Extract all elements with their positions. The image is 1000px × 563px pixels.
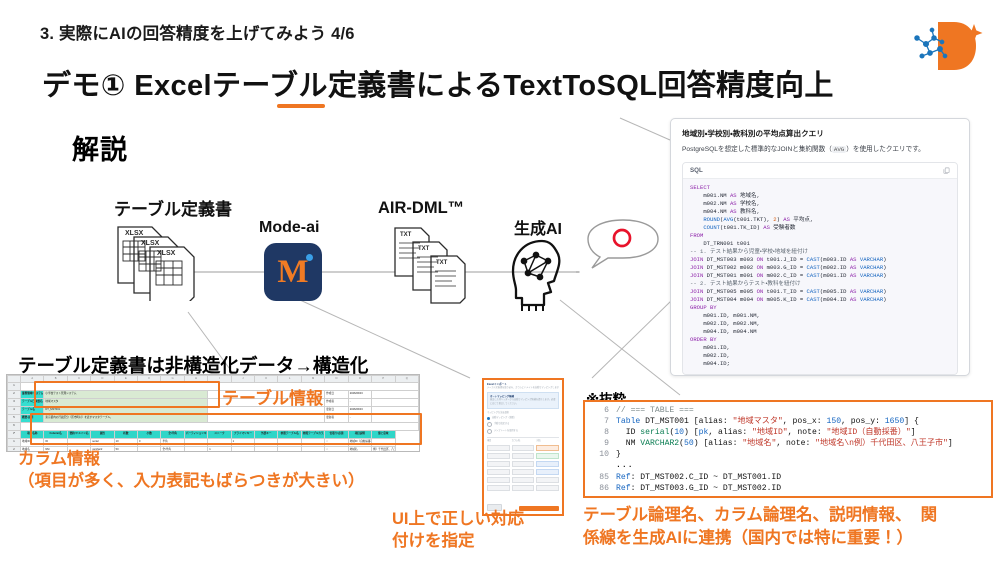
code-line: ... (587, 460, 989, 471)
ui-thumb-band-body: 検出した列ヘッダーから自動でマッピング候補を提示します。必要に応じて修正してくだ… (490, 399, 556, 406)
sql-desc-post: ）を使用したクエリです。 (846, 146, 924, 153)
sql-code-card: SQL SELECT m001.NM AS 地域名, m002.NM AS 学校… (682, 162, 958, 375)
section-label: 解説 (72, 128, 128, 167)
txt-file-stack: TXTTXTTXT (392, 225, 484, 307)
code-line-text: Ref: DT_MST003.G_ID ~ DT_MST002.ID (616, 483, 781, 494)
code-line-no: 10 (587, 449, 616, 460)
code-line-no: 7 (587, 416, 616, 427)
table-info-highlight-box (34, 381, 220, 408)
mode-ai-dot-icon (306, 254, 313, 261)
ui-mapping-caption: UI上で正しい対応付けを指定 (392, 508, 524, 553)
excel-audit-value-1: - (348, 399, 371, 407)
code-line-text: Ref: DT_MST002.C_ID ~ DT_MST001.ID (616, 472, 781, 483)
excel-col-M: M (301, 376, 324, 383)
copy-icon[interactable] (943, 167, 950, 174)
list-item[interactable] (487, 461, 559, 467)
excel-col-L: L (278, 376, 301, 383)
ui-thumb-import-button[interactable] (519, 506, 559, 511)
flow-label-air-dml: AIR-DML™ (378, 199, 464, 218)
excel-col-K: K (255, 376, 278, 383)
flow-label-mode-ai: Mode-ai (259, 219, 319, 237)
excel-col-P: P (372, 376, 395, 383)
ui-thumb-radio-2-label: 手動で指定する (494, 423, 509, 427)
svg-text:TXT: TXT (436, 260, 448, 266)
sql-code-body: SELECT m001.NM AS 地域名, m002.NM AS 学校名, m… (683, 179, 957, 374)
ui-thumb-table-header: 項目 カラム名 対応 (487, 437, 559, 444)
air-dml-code-block[interactable]: 6// === TABLE === 7Table DT_MST001 [alia… (583, 400, 993, 498)
radio-icon (487, 429, 492, 434)
excel-cell-value-2: 例）千代田区、八王子市 (372, 447, 395, 453)
column-info-highlight-box (30, 413, 422, 445)
excel-row-no-1: 1 (8, 439, 21, 447)
code-line-no: 86 (587, 483, 616, 494)
dml-benefit-caption: テーブル論理名、カラム論理名、説明情報、 関係線を生成AIに連携（国内では特に重… (583, 504, 937, 550)
title-underline-rule (277, 104, 325, 108)
code-line-no: 85 (587, 472, 616, 483)
list-item[interactable] (487, 485, 559, 491)
list-item[interactable] (487, 477, 559, 483)
code-line-no: 9 (587, 438, 616, 449)
ui-thumb-radio-3-label: テンプレートを使用する (494, 430, 518, 434)
column-info-tag: カラム情報（項目が多く、入力表記もばらつきが大きい） (18, 448, 365, 493)
sql-panel-description: PostgreSQLを想定した標準的なJOINと集約関数（AVG）を使用したクエ… (682, 145, 958, 154)
code-line: 7Table DT_MST001 [alias: "地域マスタ", pos_x:… (587, 416, 989, 427)
ui-thumb-th-1: カラム名 (512, 440, 535, 444)
brand-d-logo (912, 16, 986, 76)
sql-panel-title: 地域別・学校別・教科別の平均点算出クエリ (682, 129, 958, 139)
code-line-text: ID serial(10) [pk, alias: "地域ID", note: … (616, 427, 916, 438)
flow-label-gen-ai: 生成AI (514, 215, 562, 239)
code-line: 6// === TABLE === (587, 405, 989, 416)
sql-answer-panel[interactable]: 地域別・学校別・教科別の平均点算出クエリ PostgreSQLを想定した標準的な… (670, 118, 970, 376)
code-line: 8 ID serial(10) [pk, alias: "地域ID", note… (587, 427, 989, 438)
ui-thumb-info-band: オートマッピング候補 検出した列ヘッダーから自動でマッピング候補を提示します。必… (487, 392, 559, 409)
sql-desc-code: AVG (832, 146, 846, 153)
code-line-no: 8 (587, 427, 616, 438)
excel-audit-label-0: 作成日 (325, 391, 348, 399)
excel-col-Q: Q (395, 376, 419, 383)
excel-col-J: J (231, 376, 254, 383)
slide-title: デモ① Excelテーブル定義書によるTextToSQL回答精度向上 (42, 62, 834, 104)
sql-code-card-header: SQL (683, 163, 957, 179)
table-info-tag: テーブル情報 (222, 384, 323, 409)
list-item[interactable] (487, 445, 559, 451)
excel-audit-value-0: 2026/06/03 (348, 391, 371, 399)
pipeline-diagram: テーブル定義書 Mode-ai AIR-DML™ 生成AI XLSXXLSXXL… (60, 195, 680, 335)
code-line-no: 6 (587, 405, 616, 416)
code-line: 10} (587, 449, 989, 460)
ai-answer-bubble (584, 217, 662, 271)
ui-thumb-th-0: 項目 (487, 440, 510, 444)
slide-kicker: 3. 実際にAIの回答精度を上げてみよう 4/6 (40, 20, 355, 44)
radio-icon (487, 422, 492, 427)
generative-ai-head-icon (506, 237, 582, 313)
sql-desc-pre: PostgreSQLを想定した標準的なJOINと集約関数（ (682, 146, 832, 153)
ui-thumb-radio-1-label: 自動マッピング（推奨） (492, 417, 516, 421)
ui-thumb-option-label: マッピング方法を選択 (487, 412, 559, 416)
code-line-text: } (616, 449, 621, 460)
excel-audit-label-1: 作成者 (325, 399, 348, 407)
svg-text:TXT: TXT (418, 246, 430, 252)
slide-root: 3. 実際にAIの回答精度を上げてみよう 4/6 デモ① Excelテーブル定義… (0, 0, 1000, 563)
svg-text:XLSX: XLSX (125, 230, 144, 237)
code-line-no (587, 460, 616, 471)
code-line-text: Table DT_MST001 [alias: "地域マスタ", pos_x: … (616, 416, 919, 427)
mode-ai-app-icon[interactable]: M (264, 243, 322, 301)
code-line-text: NM VARCHAR2(50) [alias: "地域名", note: "地域… (616, 438, 953, 449)
radio-icon (487, 417, 490, 420)
excel-col-O: O (348, 376, 371, 383)
ui-thumb-th-2: 対応 (536, 440, 559, 444)
code-line-text: ... (616, 460, 634, 471)
list-item[interactable] (487, 453, 559, 459)
ui-thumb-radio-2[interactable]: 手動で指定する (487, 422, 559, 427)
list-item[interactable] (487, 469, 559, 475)
xlsx-file-stack: XLSXXLSXXLSX (114, 221, 224, 301)
flow-label-table-def: テーブル定義書 (114, 195, 232, 220)
excel-corner-cell (8, 376, 21, 383)
sql-lang-label: SQL (690, 167, 703, 174)
code-line-text: // === TABLE === (616, 405, 694, 416)
svg-text:TXT: TXT (400, 232, 412, 238)
code-line: 85Ref: DT_MST002.C_ID ~ DT_MST001.ID (587, 472, 989, 483)
mode-ai-letter: M (264, 243, 322, 301)
code-line: 86Ref: DT_MST003.G_ID ~ DT_MST002.ID (587, 483, 989, 494)
code-line: 9 NM VARCHAR2(50) [alias: "地域名", note: "… (587, 438, 989, 449)
mapping-dialog-thumbnail[interactable]: Excelインポート テーブル定義書を取り込み、カラムとドメインを自動でマッピン… (482, 378, 564, 516)
ui-thumb-subtitle: テーブル定義書を取り込み、カラムとドメインを自動でマッピングします (487, 387, 559, 391)
excel-col-N: N (325, 376, 348, 383)
ui-thumb-radio-1[interactable]: 自動マッピング（推奨） (487, 417, 559, 421)
ui-thumb-radio-3[interactable]: テンプレートを使用する (487, 429, 559, 434)
